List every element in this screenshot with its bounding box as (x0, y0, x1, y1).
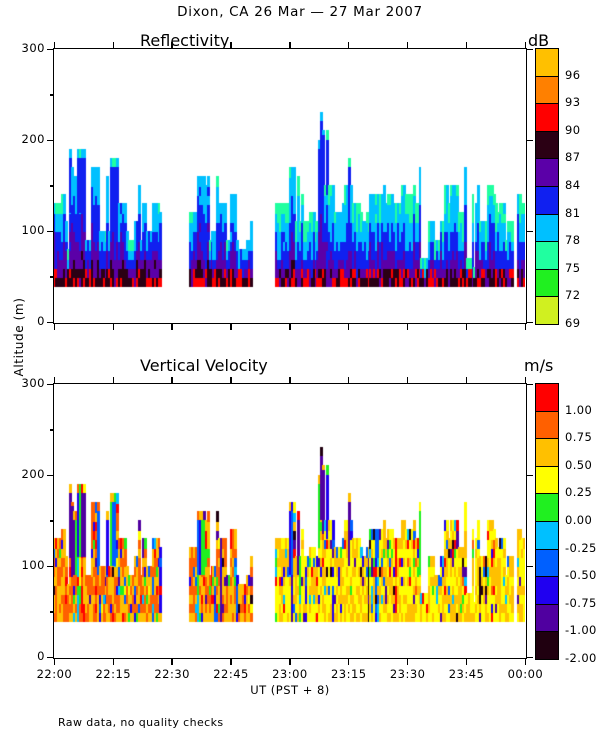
colorbar-tick-label: 90 (565, 123, 580, 137)
x-axis-major-tick (230, 323, 231, 330)
x-axis-major-tick (289, 658, 290, 665)
y-axis-major-tick-right (526, 566, 533, 567)
colorbar-swatch (535, 631, 559, 660)
colorbar-tick-label: 93 (565, 95, 580, 109)
colorbar-tick-label: 96 (565, 68, 580, 82)
x-axis-major-tick (466, 323, 467, 330)
reflectivity-colorbar: 96939087848178757269 (535, 48, 559, 324)
y-axis-minor-tick (50, 276, 54, 277)
y-axis-major-tick (47, 140, 54, 141)
y-axis-tick-label: 300 (1, 41, 45, 55)
x-axis-major-tick (466, 658, 467, 665)
colorbar-tick-label: 0.25 (565, 485, 592, 499)
colorbar-swatch (535, 186, 559, 215)
colorbar-swatch (535, 411, 559, 440)
colorbar-tick-label: 78 (565, 233, 580, 247)
x-axis-major-tick-top (525, 42, 526, 49)
vertical-velocity-data-canvas (54, 384, 525, 657)
x-axis-major-tick-top (466, 42, 467, 49)
x-axis-major-tick-top (171, 42, 172, 49)
x-axis-tick-label: 23:45 (437, 667, 497, 681)
y-axis-major-tick-right (526, 231, 533, 232)
colorbar-swatch (535, 241, 559, 270)
y-axis-tick-label: 100 (1, 223, 45, 237)
colorbar-tick-label: 87 (565, 150, 580, 164)
y-axis-major-tick (47, 566, 54, 567)
colorbar-tick-label: -2.00 (565, 651, 597, 665)
x-axis-tick-label: 23:00 (260, 667, 320, 681)
colorbar-tick-label: 0.00 (565, 513, 592, 527)
x-axis-major-tick-top (407, 42, 408, 49)
colorbar-swatch (535, 131, 559, 160)
x-axis-major-tick-top (289, 377, 290, 384)
x-axis-major-tick-top (230, 42, 231, 49)
panel-title-vertical-velocity: Vertical Velocity (140, 356, 440, 375)
y-axis-minor-tick (50, 520, 54, 521)
x-axis-major-tick-top (54, 377, 55, 384)
y-axis-major-tick-right (526, 657, 533, 658)
colorbar-swatch (535, 103, 559, 132)
colorbar-swatch (535, 493, 559, 522)
vertical-velocity-colorbar: 1.000.750.500.250.00-0.25-0.50-0.75-1.00… (535, 383, 559, 659)
x-axis-major-tick (113, 323, 114, 330)
colorbar-tick-label: 72 (565, 288, 580, 302)
figure-root: Dixon, CA 26 Mar — 27 Mar 2007 Reflectiv… (0, 0, 600, 750)
x-axis-major-tick-top (348, 377, 349, 384)
figure-footnote: Raw data, no quality checks (58, 716, 223, 729)
colorbar-tick-label: -0.25 (565, 541, 597, 555)
x-axis-major-tick-top (407, 377, 408, 384)
x-axis-major-tick (525, 323, 526, 330)
colorbar-swatch (535, 438, 559, 467)
x-axis-major-tick-top (113, 42, 114, 49)
x-axis-major-tick (407, 323, 408, 330)
x-axis-major-tick (171, 323, 172, 330)
x-axis-major-tick-top (113, 377, 114, 384)
vertical-velocity-plot-area (53, 383, 527, 659)
x-axis-tick-label: 22:00 (24, 667, 84, 681)
reflectivity-plot-area (53, 48, 527, 324)
y-axis-major-tick-right (526, 140, 533, 141)
x-axis-major-tick-top (54, 42, 55, 49)
colorbar-swatch (535, 76, 559, 105)
y-axis-major-tick-right (526, 384, 533, 385)
figure-title: Dixon, CA 26 Mar — 27 Mar 2007 (0, 4, 600, 20)
x-axis-major-tick (171, 658, 172, 665)
x-axis-tick-label: 22:15 (83, 667, 143, 681)
colorbar-swatch (535, 604, 559, 633)
colorbar-swatch (535, 296, 559, 325)
colorbar-tick-label: -1.00 (565, 623, 597, 637)
y-axis-major-tick (47, 231, 54, 232)
x-axis-tick-label: 00:00 (495, 667, 555, 681)
colorbar-tick-label: -0.75 (565, 596, 597, 610)
x-axis-tick-label: 23:15 (319, 667, 379, 681)
y-axis-minor-tick (50, 185, 54, 186)
x-axis-major-tick (54, 323, 55, 330)
y-axis-tick-label: 100 (1, 558, 45, 572)
y-axis-title: Altitude (m) (12, 272, 26, 402)
colorbar-tick-label: 69 (565, 316, 580, 330)
x-axis-major-tick-top (348, 42, 349, 49)
x-axis-major-tick-top (289, 42, 290, 49)
colorbar-tick-label: -0.50 (565, 568, 597, 582)
colorbar-unit-ms: m/s (524, 356, 576, 375)
y-axis-tick-label: 200 (1, 132, 45, 146)
x-axis-title: UT (PST + 8) (180, 683, 400, 697)
colorbar-swatch (535, 521, 559, 550)
colorbar-swatch (535, 48, 559, 77)
colorbar-tick-label: 0.50 (565, 458, 592, 472)
y-axis-minor-tick (50, 94, 54, 95)
y-axis-major-tick-right (526, 322, 533, 323)
colorbar-swatch (535, 214, 559, 243)
x-axis-major-tick (525, 658, 526, 665)
y-axis-minor-tick (50, 611, 54, 612)
x-axis-major-tick (348, 323, 349, 330)
colorbar-tick-label: 0.75 (565, 430, 592, 444)
colorbar-swatch (535, 576, 559, 605)
colorbar-tick-label: 1.00 (565, 403, 592, 417)
colorbar-swatch (535, 158, 559, 187)
colorbar-swatch (535, 269, 559, 298)
y-axis-tick-label: 0 (1, 649, 45, 663)
x-axis-major-tick (407, 658, 408, 665)
colorbar-tick-label: 81 (565, 206, 580, 220)
colorbar-tick-label: 75 (565, 261, 580, 275)
x-axis-major-tick-top (230, 377, 231, 384)
colorbar-swatch (535, 466, 559, 495)
y-axis-major-tick-right (526, 475, 533, 476)
reflectivity-data-canvas (54, 49, 525, 322)
x-axis-tick-label: 22:30 (142, 667, 202, 681)
x-axis-tick-label: 23:30 (378, 667, 438, 681)
x-axis-major-tick (348, 658, 349, 665)
y-axis-major-tick (47, 475, 54, 476)
x-axis-major-tick-top (171, 377, 172, 384)
x-axis-major-tick-top (466, 377, 467, 384)
x-axis-tick-label: 22:45 (201, 667, 261, 681)
x-axis-major-tick (54, 658, 55, 665)
colorbar-swatch (535, 549, 559, 578)
x-axis-major-tick (230, 658, 231, 665)
x-axis-major-tick (113, 658, 114, 665)
colorbar-swatch (535, 383, 559, 412)
y-axis-tick-label: 200 (1, 467, 45, 481)
x-axis-major-tick (289, 323, 290, 330)
x-axis-major-tick-top (525, 377, 526, 384)
y-axis-minor-tick (50, 429, 54, 430)
colorbar-tick-label: 84 (565, 178, 580, 192)
